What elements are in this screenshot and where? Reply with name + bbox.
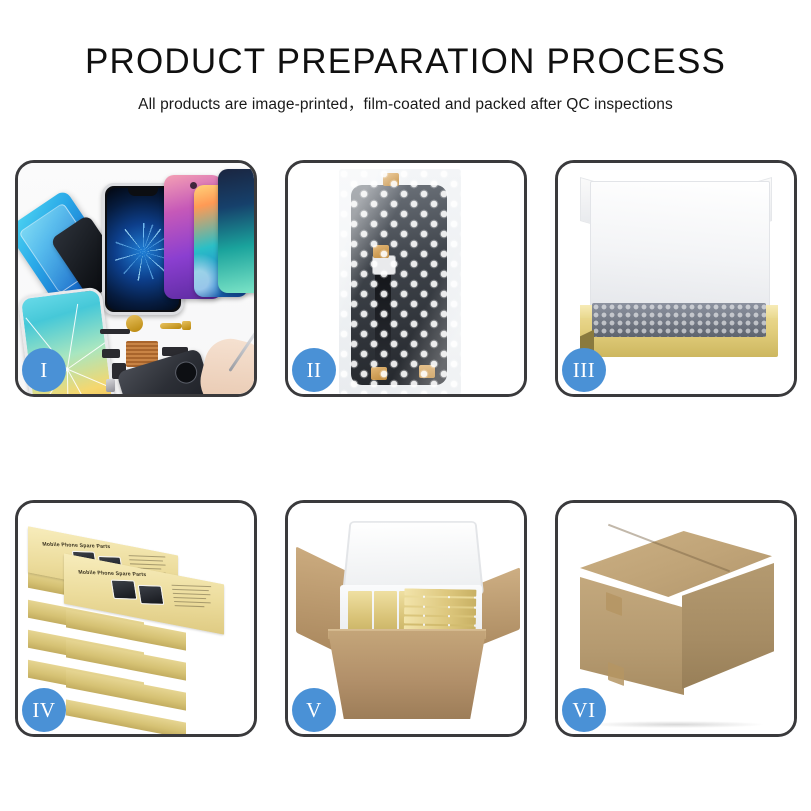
steps-grid: I II — [15, 160, 796, 737]
step-badge-5: V — [292, 688, 336, 732]
step-badge-4: IV — [22, 688, 66, 732]
step-panel-4: Mobile Phone Spare Parts Mobile Phone — [15, 500, 257, 737]
bubble-wrap-bag — [339, 169, 461, 394]
carton-body — [328, 631, 486, 719]
step-badge-1: I — [22, 348, 66, 392]
step-panel-6: VI — [555, 500, 797, 737]
green-phone-icon — [218, 169, 254, 293]
step-panel-5: V — [285, 500, 527, 737]
step-panel-2: II — [285, 160, 527, 397]
page-subtitle: All products are image-printed，film-coat… — [0, 92, 811, 114]
step-badge-6: VI — [562, 688, 606, 732]
white-box-lid — [590, 181, 770, 315]
step-badge-3: III — [562, 348, 606, 392]
step-panel-3: III — [555, 160, 797, 397]
header: PRODUCT PREPARATION PROCESS All products… — [0, 0, 811, 114]
product-preparation-infographic: PRODUCT PREPARATION PROCESS All products… — [0, 0, 811, 811]
carton-shadow — [589, 721, 764, 728]
step-panel-1: I — [15, 160, 257, 397]
box-spec-lines — [171, 585, 216, 609]
foam-lid — [342, 521, 484, 595]
plastic-sheen — [339, 169, 461, 394]
page-title: PRODUCT PREPARATION PROCESS — [0, 44, 811, 81]
bubble-wrapped-contents — [592, 303, 766, 337]
step-badge-2: II — [292, 348, 336, 392]
box-stack: Mobile Phone Spare Parts Mobile Phone — [24, 525, 248, 721]
